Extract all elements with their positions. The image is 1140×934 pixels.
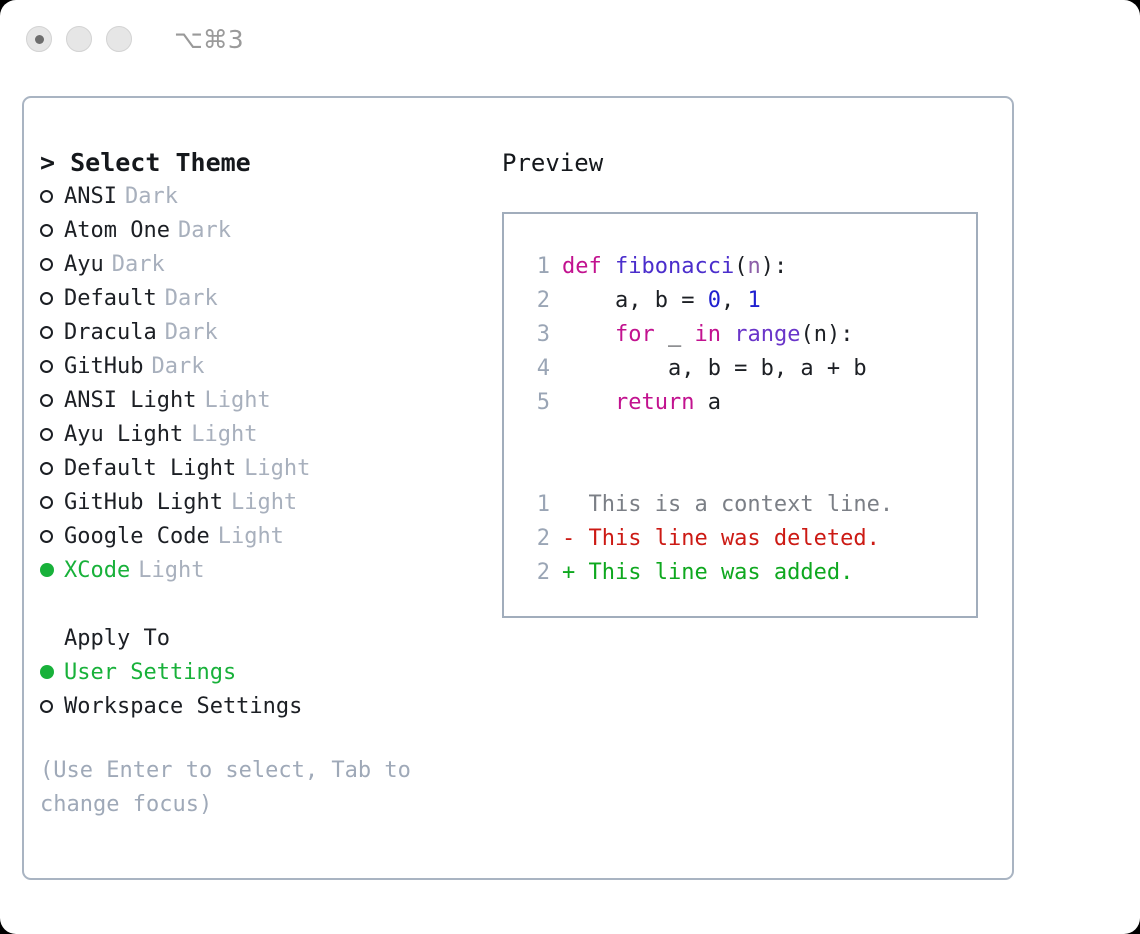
diff-line-content: + This line was added. — [562, 556, 853, 590]
code-token-keyword: def — [562, 254, 615, 279]
apply-to-option-label: Workspace Settings — [64, 690, 302, 724]
diff-line-added: 2 + This line was added. — [520, 556, 976, 590]
theme-option-dracula-dark[interactable]: Dracula Dark — [40, 316, 480, 350]
theme-option-label: ANSI — [64, 180, 117, 214]
diff-line-content: This is a context line. — [562, 488, 893, 522]
theme-option-default-light[interactable]: Default Light Light — [40, 452, 480, 486]
code-line: 5 return a — [520, 386, 976, 420]
keyboard-hint-text: (Use Enter to select, Tab to change focu… — [40, 754, 440, 822]
keyboard-shortcut-label: ⌥⌘3 — [174, 25, 244, 54]
apply-to-option-label: User Settings — [64, 656, 236, 690]
code-token-punct — [721, 322, 734, 347]
theme-option-default-dark[interactable]: Default Dark — [40, 282, 480, 316]
theme-option-github-dark[interactable]: GitHub Dark — [40, 350, 480, 384]
window-dot-inner — [35, 35, 44, 44]
diff-line-content: - This line was deleted. — [562, 522, 880, 556]
radio-unselected-icon — [40, 384, 64, 418]
code-line-number: 1 — [520, 250, 550, 284]
theme-option-kind: Dark — [104, 248, 165, 282]
preview-title: Preview — [502, 146, 994, 180]
code-line-content: return a — [562, 386, 721, 420]
code-token-keyword: for — [615, 322, 655, 347]
radio-unselected-icon — [40, 486, 64, 520]
theme-option-kind: Light — [223, 486, 297, 520]
window-dot-active-icon[interactable] — [26, 26, 52, 52]
code-line-content: a, b = b, a + b — [562, 352, 867, 386]
code-token-punct: a — [694, 390, 721, 415]
window-dot-2-icon[interactable] — [66, 26, 92, 52]
preview-column: Preview 1 def fibonacci(n): 2 a, b = 0, … — [502, 146, 994, 618]
radio-unselected-icon — [40, 248, 64, 282]
code-token-number: 0 — [708, 288, 721, 313]
code-line-number: 3 — [520, 318, 550, 352]
theme-option-label: Dracula — [64, 316, 157, 350]
preview-blank-line — [520, 454, 976, 488]
preview-box: 1 def fibonacci(n): 2 a, b = 0, 1 3 for … — [502, 212, 978, 618]
theme-option-ansi-light[interactable]: ANSI Light Light — [40, 384, 480, 418]
theme-option-ansi-dark[interactable]: ANSI Dark — [40, 180, 480, 214]
diff-line-number: 2 — [520, 556, 550, 590]
code-token-punct: ): — [761, 254, 788, 279]
radio-unselected-icon — [40, 316, 64, 350]
code-line: 2 a, b = 0, 1 — [520, 284, 976, 318]
theme-option-github-light[interactable]: GitHub Light Light — [40, 486, 480, 520]
code-token-punct — [562, 390, 615, 415]
code-token-punct: a, b = — [562, 288, 708, 313]
theme-option-kind: Dark — [157, 316, 218, 350]
code-line-number: 5 — [520, 386, 550, 420]
select-theme-header: > Select Theme — [40, 146, 480, 180]
code-line-number: 2 — [520, 284, 550, 318]
diff-line-number: 1 — [520, 488, 550, 522]
code-token-number: 1 — [747, 288, 760, 313]
radio-unselected-icon — [40, 690, 64, 724]
preview-blank-line — [520, 420, 976, 454]
code-token-builtin: range — [734, 322, 800, 347]
radio-unselected-icon — [40, 452, 64, 486]
code-token-punct: , — [721, 288, 748, 313]
theme-option-xcode[interactable]: XCode Light — [40, 554, 480, 588]
theme-option-kind: Light — [183, 418, 257, 452]
theme-option-label: ANSI Light — [64, 384, 196, 418]
radio-selected-icon — [40, 656, 64, 690]
code-token-punct: (n): — [800, 322, 853, 347]
apply-to-option-workspace-settings[interactable]: Workspace Settings — [40, 690, 480, 724]
apply-to-header: Apply To — [40, 622, 480, 656]
theme-option-label: Default Light — [64, 452, 236, 486]
radio-unselected-icon — [40, 282, 64, 316]
main-panel: > Select Theme ANSI Dark Atom One Dark A… — [22, 96, 1014, 880]
theme-option-google-code[interactable]: Google Code Light — [40, 520, 480, 554]
list-spacer — [40, 588, 480, 622]
code-token-keyword: return — [615, 390, 694, 415]
theme-option-kind: Light — [210, 520, 284, 554]
code-token-punct: a, b = b, a + b — [562, 356, 867, 381]
apply-to-option-user-settings[interactable]: User Settings — [40, 656, 480, 690]
theme-option-kind: Light — [196, 384, 270, 418]
code-token-keyword: in — [694, 322, 721, 347]
code-token-punct: ( — [734, 254, 747, 279]
theme-option-kind: Dark — [170, 214, 231, 248]
radio-selected-icon — [40, 554, 64, 588]
code-line: 4 a, b = b, a + b — [520, 352, 976, 386]
window-dot-3-icon[interactable] — [106, 26, 132, 52]
theme-option-kind: Dark — [157, 282, 218, 316]
theme-option-kind: Dark — [117, 180, 178, 214]
code-line-content: a, b = 0, 1 — [562, 284, 761, 318]
code-token-punct — [562, 322, 615, 347]
diff-line-number: 2 — [520, 522, 550, 556]
diff-line-context: 1 This is a context line. — [520, 488, 976, 522]
code-line-content: def fibonacci(n): — [562, 250, 787, 284]
diff-line-deleted: 2 - This line was deleted. — [520, 522, 976, 556]
code-token-function: fibonacci — [615, 254, 734, 279]
theme-option-label: Atom One — [64, 214, 170, 248]
theme-option-ayu-light[interactable]: Ayu Light Light — [40, 418, 480, 452]
radio-unselected-icon — [40, 214, 64, 248]
theme-option-label: Ayu — [64, 248, 104, 282]
code-line: 1 def fibonacci(n): — [520, 250, 976, 284]
theme-option-kind: Light — [236, 452, 310, 486]
theme-option-label: Default — [64, 282, 157, 316]
app-window: ⌥⌘3 > Select Theme ANSI Dark Atom One Da… — [0, 0, 1140, 934]
radio-unselected-icon — [40, 180, 64, 214]
theme-option-kind: Dark — [143, 350, 204, 384]
radio-unselected-icon — [40, 418, 64, 452]
theme-option-label: Google Code — [64, 520, 210, 554]
radio-unselected-icon — [40, 350, 64, 384]
theme-option-label: XCode — [64, 554, 130, 588]
code-line-content: for _ in range(n): — [562, 318, 853, 352]
theme-selector-column: > Select Theme ANSI Dark Atom One Dark A… — [40, 146, 480, 822]
theme-option-atom-one-dark[interactable]: Atom One Dark — [40, 214, 480, 248]
theme-option-label: GitHub Light — [64, 486, 223, 520]
radio-unselected-icon — [40, 520, 64, 554]
code-token-param: n — [747, 254, 760, 279]
theme-option-label: Ayu Light — [64, 418, 183, 452]
theme-option-ayu-dark[interactable]: Ayu Dark — [40, 248, 480, 282]
title-bar: ⌥⌘3 — [0, 0, 1140, 78]
theme-option-kind: Light — [130, 554, 204, 588]
code-line-number: 4 — [520, 352, 550, 386]
theme-option-label: GitHub — [64, 350, 143, 384]
code-token-punct: _ — [655, 322, 695, 347]
code-line: 3 for _ in range(n): — [520, 318, 976, 352]
